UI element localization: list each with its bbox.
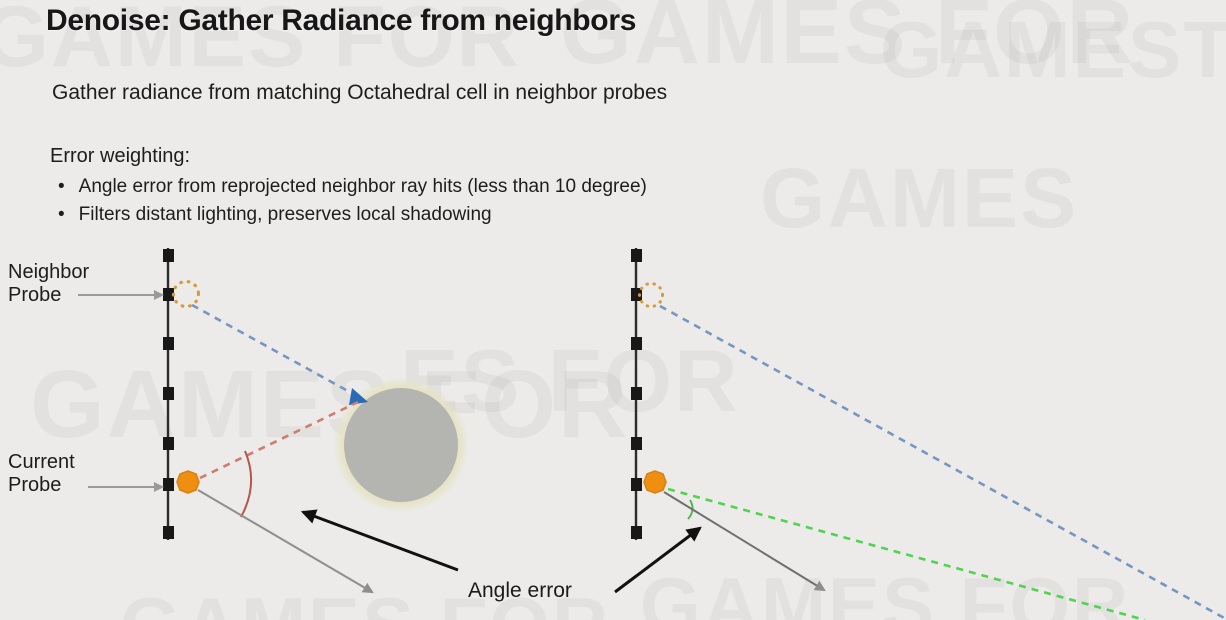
neighbor-probe-label-line2: Probe — [8, 284, 89, 307]
wall-tick — [163, 437, 174, 450]
wall-left — [163, 248, 174, 540]
occluder-sphere — [344, 388, 458, 502]
wall-tick — [631, 478, 642, 491]
angle-error-arc-red — [241, 451, 251, 517]
wall-tick — [631, 387, 642, 400]
current-probe-label-line2: Probe — [8, 474, 75, 497]
current-probe-marker — [644, 471, 666, 493]
neighbor-probe-marker — [174, 282, 199, 307]
diagram-illustration — [0, 0, 1226, 620]
wall-tick — [631, 437, 642, 450]
current-probe-label: Current Probe — [8, 451, 75, 497]
neighbor-ray-blue — [660, 306, 1226, 619]
current-probe-ray-green — [668, 489, 1145, 620]
wall-tick — [631, 249, 642, 262]
current-probe-marker — [177, 471, 199, 493]
right-panel — [631, 248, 1226, 620]
wall-tick — [163, 478, 174, 491]
wall-tick — [163, 526, 174, 539]
wall-tick — [163, 337, 174, 350]
wall-tick — [631, 526, 642, 539]
slide-canvas: GAMES FOR GAMES FOR GAMESTO GAMES FOR ES… — [0, 0, 1226, 620]
left-panel — [163, 248, 469, 592]
angle-error-left-callout-arrow — [303, 512, 458, 570]
angle-error-label: Angle error — [468, 579, 572, 603]
angle-error-right-callout-arrow — [615, 528, 700, 592]
wall-right — [631, 248, 642, 540]
current-probe-label-line1: Current — [8, 451, 75, 474]
current-probe-ray-gray — [664, 492, 824, 590]
wall-tick — [631, 337, 642, 350]
wall-tick — [163, 387, 174, 400]
neighbor-ray-blue — [192, 305, 357, 396]
neighbor-probe-label: Neighbor Probe — [8, 261, 89, 307]
current-probe-ray-gray — [198, 490, 372, 592]
neighbor-probe-marker — [640, 284, 663, 307]
neighbor-probe-label-line1: Neighbor — [8, 261, 89, 284]
wall-tick — [163, 249, 174, 262]
